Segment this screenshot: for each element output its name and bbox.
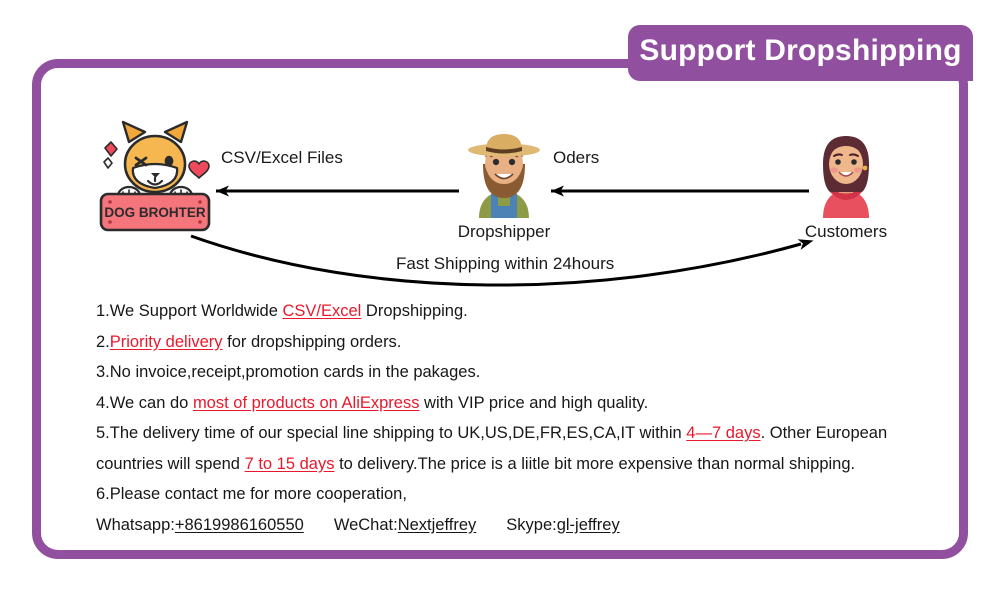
policy-item-6-part-0: Please contact me for more cooperation, — [110, 485, 407, 503]
bearded-man-straw-hat-icon — [439, 128, 569, 218]
contact-whatsapp-value[interactable]: +8619986160550 — [175, 516, 304, 534]
dropshipping-flow-diagram: DOG BROHTER — [41, 68, 977, 288]
policy-item-1: 1.We Support Worldwide CSV/Excel Dropshi… — [96, 296, 948, 327]
policy-item-2-num: 2. — [96, 333, 110, 351]
policy-item-5-part-0: The delivery time of our special line sh… — [110, 424, 687, 442]
contact-skype-value[interactable]: gl-jeffrey — [557, 516, 620, 534]
policy-item-2: 2.Priority delivery for dropshipping ord… — [96, 327, 948, 358]
contact-wechat: WeChat:Nextjeffrey — [334, 510, 476, 541]
csv-flow-label: CSV/Excel Files — [221, 148, 343, 168]
policy-list: 1.We Support Worldwide CSV/Excel Dropshi… — [96, 296, 948, 540]
policy-item-4-part-1: most of products on AliExpress — [193, 394, 420, 412]
policy-item-2-part-1: for dropshipping orders. — [223, 333, 402, 351]
node-customers: Customers — [781, 128, 911, 242]
dropshipping-banner-page: DOG BROHTER — [0, 0, 1000, 606]
contact-row: Whatsapp:+8619986160550 WeChat:Nextjeffr… — [96, 510, 948, 541]
dog-sign-text: DOG BROHTER — [104, 205, 206, 220]
policy-item-4-num: 4. — [96, 394, 110, 412]
policy-item-6-num: 6. — [96, 485, 110, 503]
policy-item-4-part-0: We can do — [110, 394, 193, 412]
content-card-frame: DOG BROHTER — [32, 59, 968, 559]
contact-whatsapp-label: Whatsapp: — [96, 516, 175, 534]
woman-red-top-icon — [781, 128, 911, 218]
page-title: Support Dropshipping — [639, 36, 961, 66]
contact-wechat-label: WeChat: — [334, 516, 398, 534]
policy-item-1-num: 1. — [96, 302, 110, 320]
policy-item-5: 5.The delivery time of our special line … — [96, 418, 948, 479]
policy-item-3-num: 3. — [96, 363, 110, 381]
policy-item-6: 6.Please contact me for more cooperation… — [96, 479, 948, 510]
policy-item-2-part-0: Priority delivery — [110, 333, 223, 351]
dropshipper-label: Dropshipper — [439, 223, 569, 242]
shiba-dog-holding-sign-icon: DOG BROHTER — [89, 116, 219, 234]
policy-item-5-part-4: to delivery.The price is a liitle bit mo… — [334, 455, 855, 473]
contact-wechat-value[interactable]: Nextjeffrey — [398, 516, 477, 534]
policy-item-5-num: 5. — [96, 424, 110, 442]
contact-skype: Skype:gl-jeffrey — [506, 510, 619, 541]
policy-item-1-part-2: Dropshipping. — [361, 302, 467, 320]
policy-item-3: 3.No invoice,receipt,promotion cards in … — [96, 357, 948, 388]
policy-item-4-part-2: with VIP price and high quality. — [419, 394, 648, 412]
policy-item-1-part-1: CSV/Excel — [282, 302, 361, 320]
policy-item-4: 4.We can do most of products on AliExpre… — [96, 388, 948, 419]
header-banner: Support Dropshipping — [628, 25, 973, 81]
node-supplier: DOG BROHTER — [89, 116, 219, 239]
contact-whatsapp: Whatsapp:+8619986160550 — [96, 510, 304, 541]
node-dropshipper: Dropshipper — [439, 128, 569, 242]
contact-skype-label: Skype: — [506, 516, 556, 534]
customers-label: Customers — [781, 223, 911, 242]
shipping-flow-label: Fast Shipping within 24hours — [396, 254, 614, 274]
policy-item-3-part-0: No invoice,receipt,promotion cards in th… — [110, 363, 481, 381]
orders-flow-label: Oders — [553, 148, 599, 168]
policy-item-1-part-0: We Support Worldwide — [110, 302, 283, 320]
policy-item-5-part-1: 4—7 days — [686, 424, 760, 442]
policy-item-5-part-3: 7 to 15 days — [245, 455, 335, 473]
